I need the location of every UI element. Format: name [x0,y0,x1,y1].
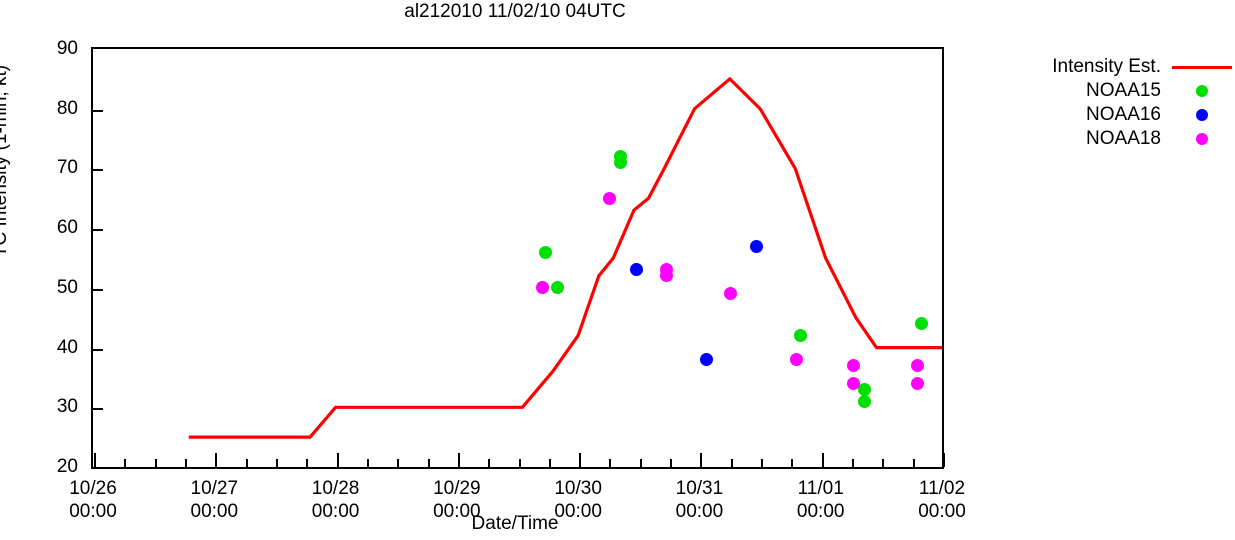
x-tick-minor [549,459,551,467]
legend-dot-icon [1196,85,1208,97]
x-tick-date: 10/27 [154,477,274,500]
x-tick-minor [185,459,187,467]
y-axis-label: TC Intensity (1-min, kt) [0,61,12,261]
data-point-noaa18 [790,353,803,366]
data-point-noaa15 [915,317,928,330]
data-point-noaa18 [847,359,860,372]
x-tick-major [943,453,945,467]
tc-intensity-chart: al212010 11/02/10 04UTC TC Intensity (1-… [0,0,1235,540]
legend-label: Intensity Est. [1052,56,1161,78]
legend-item-noaa15: NOAA15 [1000,79,1235,103]
legend-label: NOAA16 [1086,104,1161,126]
x-tick-minor [367,459,369,467]
legend-item-noaa18: NOAA18 [1000,127,1235,151]
y-tick-mark [93,110,103,112]
x-tick-minor [670,459,672,467]
legend-label: NOAA15 [1086,80,1161,102]
chart-legend: Intensity Est.NOAA15NOAA16NOAA18 [1000,55,1235,151]
data-point-noaa15 [858,395,871,408]
x-tick-date: 10/28 [276,477,396,500]
legend-line-icon [1172,66,1232,69]
x-tick-minor [246,459,248,467]
data-point-noaa15 [794,329,807,342]
x-tick-date: 10/26 [33,477,153,500]
legend-label: NOAA18 [1086,128,1161,150]
x-tick-major [700,453,702,467]
legend-dot-swatch [1169,85,1235,97]
data-point-noaa18 [603,192,616,205]
x-tick-date: 11/01 [761,477,881,500]
y-tick-mark [93,408,103,410]
x-tick-minor [155,459,157,467]
legend-dot-swatch [1169,109,1235,121]
y-tick-label: 50 [36,278,78,297]
x-tick-major [94,453,96,467]
x-tick-minor [913,459,915,467]
data-point-noaa15 [614,156,627,169]
x-tick-minor [761,459,763,467]
x-tick-minor [882,459,884,467]
x-tick-minor [731,459,733,467]
intensity-line-layer [93,49,942,467]
y-tick-label: 20 [36,457,78,476]
x-tick-minor [124,459,126,467]
x-tick-minor [609,459,611,467]
legend-dot-icon [1196,133,1208,145]
y-tick-label: 70 [36,158,78,177]
intensity-estimate-line [189,79,942,437]
data-point-noaa16 [750,240,763,253]
x-tick-major [458,453,460,467]
x-tick-minor [276,459,278,467]
y-tick-label: 90 [36,39,78,58]
data-point-noaa15 [539,246,552,259]
legend-dot-icon [1196,109,1208,121]
x-tick-date: 11/02 [882,477,1002,500]
x-tick-minor [397,459,399,467]
x-tick-minor [640,459,642,467]
chart-title: al212010 11/02/10 04UTC [0,1,1030,23]
y-tick-label: 40 [36,338,78,357]
legend-item-intensity-est: Intensity Est. [1000,55,1235,79]
x-tick-date: 10/31 [639,477,759,500]
y-tick-mark [93,289,103,291]
y-tick-mark [93,349,103,351]
y-tick-label: 60 [36,218,78,237]
legend-item-noaa16: NOAA16 [1000,103,1235,127]
x-tick-major [579,453,581,467]
x-tick-date: 10/30 [518,477,638,500]
legend-dot-swatch [1169,133,1235,145]
x-tick-minor [791,459,793,467]
x-tick-major [822,453,824,467]
data-point-noaa18 [847,377,860,390]
y-tick-mark [93,169,103,171]
x-tick-minor [852,459,854,467]
x-tick-minor [519,459,521,467]
x-tick-date: 10/29 [397,477,517,500]
y-tick-label: 30 [36,397,78,416]
x-tick-minor [306,459,308,467]
plot-area [91,47,944,469]
x-axis-label: Date/Time [0,513,1030,535]
x-tick-major [337,453,339,467]
y-tick-mark [93,229,103,231]
x-tick-major [215,453,217,467]
y-tick-label: 80 [36,99,78,118]
x-tick-minor [488,459,490,467]
legend-line-swatch [1169,66,1235,69]
x-tick-minor [428,459,430,467]
plot-inner [93,49,942,467]
